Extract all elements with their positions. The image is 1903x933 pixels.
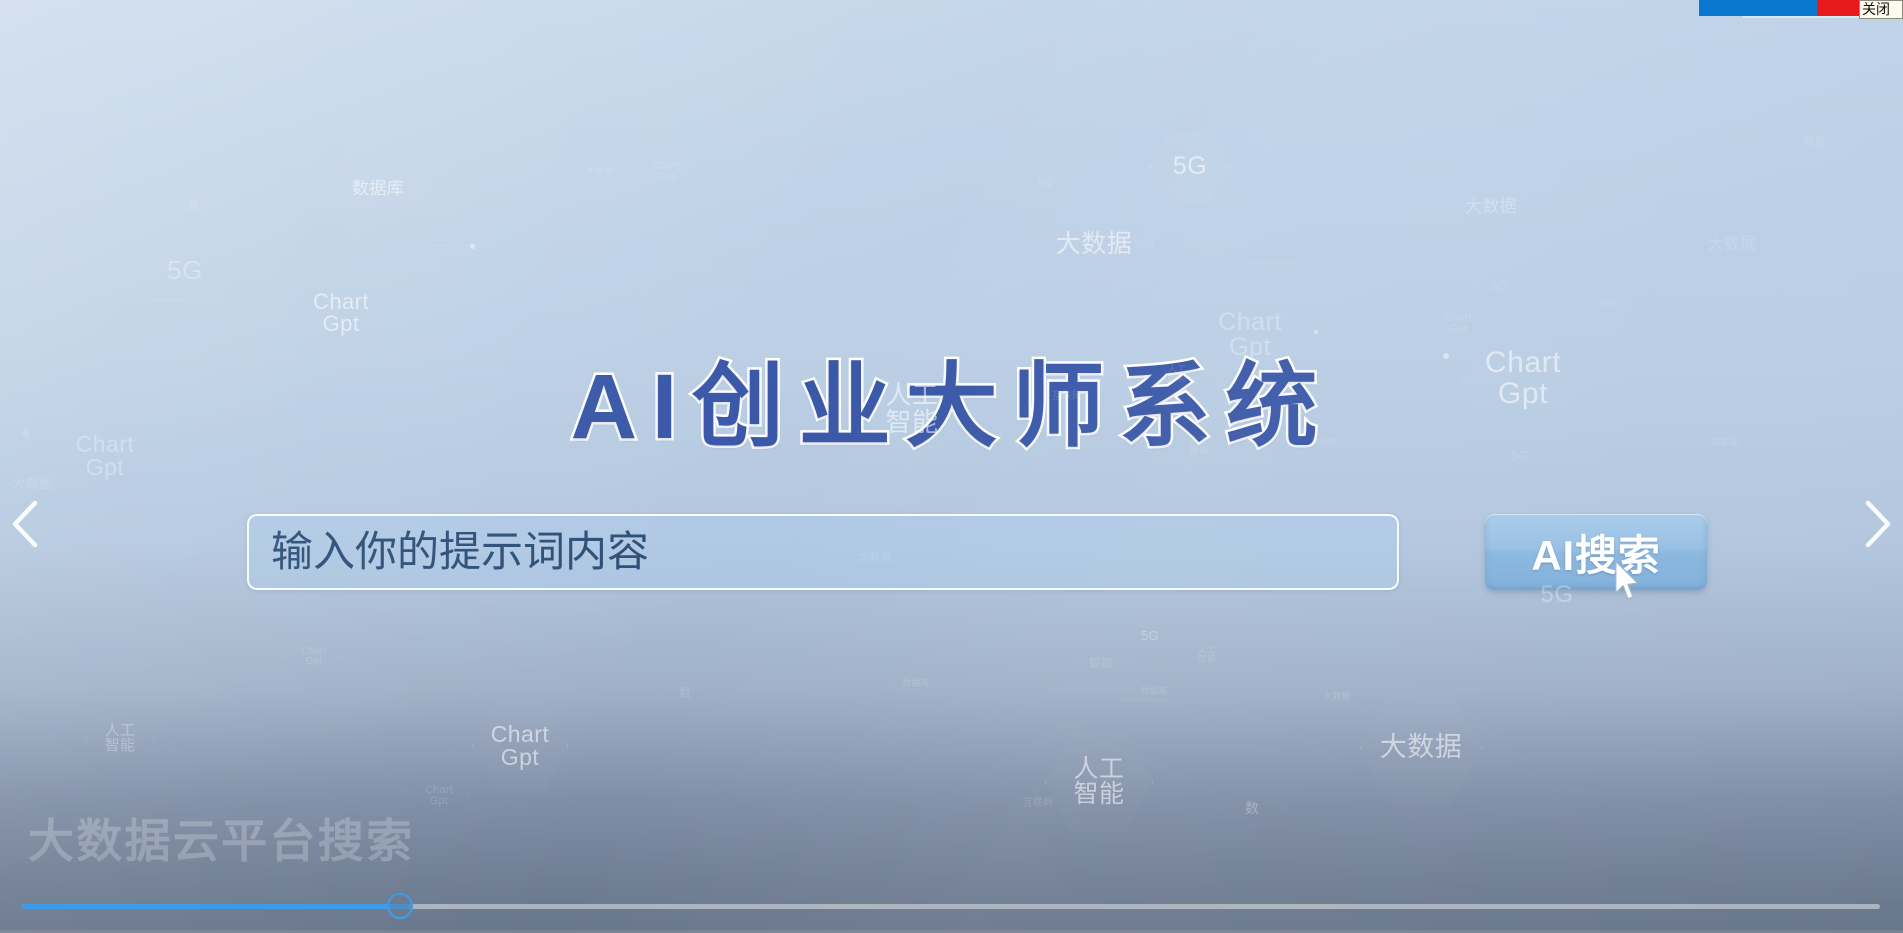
- hexagon-shape-icon: [1477, 265, 1523, 307]
- prompt-input[interactable]: [247, 514, 1399, 590]
- hexagon-shape-icon: [1074, 638, 1128, 688]
- hexagon-label: 人工 智能: [105, 723, 136, 754]
- carousel-next-button[interactable]: [1853, 495, 1899, 553]
- hexagon-tag: 数据库: [890, 660, 942, 708]
- hexagon-tag: 数: [662, 672, 708, 714]
- hero-stage: 数据库大数据Chart Gpt数5G大数据人工 智能大数据5GChart Gpt…: [0, 0, 1903, 933]
- connector-line: [430, 245, 478, 246]
- hexagon-tag: 互联网: [1010, 778, 1066, 830]
- hexagon-label: 大数据: [1380, 734, 1463, 762]
- media-progress-slider[interactable]: [0, 893, 1903, 919]
- close-tooltip: 关闭: [1859, 0, 1903, 19]
- hexagon-tag: 人工 智能: [1045, 730, 1153, 834]
- hexagon-tag: 人工 智能: [1022, 158, 1070, 204]
- window-close-button[interactable]: [1817, 0, 1859, 16]
- hexagon-shape-icon: [1128, 668, 1180, 716]
- hexagon-tag: Chart Gpt: [634, 142, 698, 202]
- hexagon-label: 智能: [1804, 137, 1826, 148]
- connector-line: [150, 300, 210, 301]
- hexagon-label: 5G: [167, 257, 203, 284]
- hexagon-shape-icon: [286, 630, 342, 684]
- hexagon-shape-icon: [662, 672, 708, 714]
- connector-line: [1120, 700, 1172, 701]
- hexagon-tag: 5G: [1477, 265, 1523, 307]
- hexagon-shape-icon: [1150, 130, 1230, 204]
- hexagon-shape-icon: [1585, 284, 1631, 326]
- hexagon-tag: 智能: [1790, 120, 1840, 166]
- hexagon-label: 5G: [1141, 629, 1159, 642]
- hexagon-tag: 大数据: [1694, 210, 1770, 280]
- hexagon-tag: 人工 智能: [1180, 630, 1234, 680]
- hexagon-tag: 大数据: [1310, 672, 1364, 722]
- hexagon-shape-icon: [1122, 610, 1178, 662]
- hexagon-shape-icon: [634, 142, 698, 202]
- hexagon-shape-icon: [168, 182, 220, 230]
- hexagon-label: Chart Gpt: [301, 647, 326, 667]
- hexagon-label: 5G: [1492, 280, 1509, 292]
- hexagon-label: 人工 智能: [1198, 646, 1216, 664]
- hexagon-label: 5G: [1600, 299, 1615, 310]
- hexagon-label: 数据库: [352, 180, 404, 197]
- hexagon-label: 数: [188, 200, 200, 212]
- hexagon-label: 人工 智能: [1073, 757, 1124, 808]
- search-row: AI搜索: [247, 512, 1717, 592]
- hexagon-shape-icon: [890, 660, 942, 708]
- window-blue-bar[interactable]: [1699, 0, 1817, 16]
- slider-handle[interactable]: [387, 893, 413, 919]
- hexagon-label: Chart Gpt: [652, 161, 680, 183]
- hexagon-shape-icon: [1010, 778, 1066, 830]
- hexagon-shape-icon: [1452, 172, 1530, 242]
- hexagon-label: Chart Gpt: [425, 785, 453, 807]
- ai-search-button[interactable]: AI搜索: [1485, 514, 1707, 590]
- hexagon-tag: 人工 智能: [86, 706, 154, 770]
- hexagon-label: 数: [1245, 801, 1259, 815]
- hexagon-shape-icon: [1222, 780, 1282, 836]
- hexagon-label: 大数据: [1056, 232, 1133, 258]
- slider-fill: [22, 904, 412, 909]
- hexagon-tag: 5G: [1150, 130, 1230, 204]
- hexagon-shape-icon: [1310, 672, 1364, 722]
- hexagon-shape-icon: [472, 698, 568, 794]
- hexagon-shape-icon: [146, 234, 224, 306]
- hexagon-tag: Chart Gpt: [472, 698, 568, 794]
- hexagon-label: 人工 智能: [1038, 173, 1054, 189]
- hexagon-tag: 大数据: [1360, 690, 1482, 806]
- hexagon-label: 智能: [1089, 657, 1113, 669]
- hexagon-tag: 数据库: [324, 139, 432, 239]
- background-watermark-text: 大数据云平台搜索: [28, 805, 414, 871]
- hexagon-tag: 数: [1222, 780, 1282, 836]
- hexagon-tag: 数: [168, 182, 220, 230]
- hexagon-tag: 智能: [1074, 638, 1128, 688]
- hexagon-label: 数据库: [1140, 687, 1168, 696]
- hexagon-label: 数据库: [902, 679, 930, 688]
- carousel-prev-button[interactable]: [4, 495, 50, 553]
- hexagon-shape-icon: [574, 148, 626, 196]
- hexagon-shape-icon: [324, 139, 432, 239]
- hexagon-shape-icon: [1790, 120, 1840, 166]
- hexagon-shape-icon: [1045, 730, 1153, 834]
- hexagon-label: 数: [679, 687, 691, 699]
- hexagon-tag: Chart Gpt: [286, 630, 342, 684]
- hexagon-tag: 大数据: [574, 148, 626, 196]
- hexagon-tag: 大数据: [1452, 172, 1530, 242]
- page-title: AI创业大师系统: [0, 332, 1903, 465]
- slider-track[interactable]: [22, 904, 1880, 909]
- hexagon-shape-icon: [1694, 210, 1770, 280]
- hexagon-tag: Chart Gpt: [410, 768, 468, 824]
- hexagon-tag: 数据库: [1128, 668, 1180, 716]
- hexagon-label: 大数据: [1323, 692, 1351, 701]
- hexagon-shape-icon: [86, 706, 154, 770]
- hexagon-label: 大数据: [586, 167, 614, 176]
- hexagon-tag: 大数据: [1035, 191, 1153, 299]
- hexagon-label: Chart Gpt: [313, 291, 369, 336]
- window-chrome: 关闭: [1699, 0, 1903, 16]
- hexagon-shape-icon: [1022, 158, 1070, 204]
- connector-dot: [470, 244, 475, 249]
- hexagon-tag: 5G: [1122, 610, 1178, 662]
- hexagon-label: 大数据: [12, 477, 52, 490]
- hexagon-tag: 5G: [146, 234, 224, 306]
- hexagon-label: 大数据: [1465, 198, 1517, 215]
- chevron-left-icon: [4, 495, 50, 553]
- hexagon-label: 互联网: [1023, 799, 1054, 809]
- hexagon-shape-icon: [1035, 191, 1153, 299]
- hexagon-tag: 5G: [1585, 284, 1631, 326]
- hexagon-shape-icon: [1180, 630, 1234, 680]
- hexagon-label: 大数据: [1708, 237, 1757, 253]
- hexagon-shape-icon: [410, 768, 468, 824]
- hexagon-label: Chart Gpt: [491, 723, 550, 770]
- chevron-right-icon: [1853, 495, 1899, 553]
- hexagon-label: 5G: [1173, 154, 1207, 180]
- hexagon-shape-icon: [1360, 690, 1482, 806]
- connector-line: [1245, 262, 1299, 263]
